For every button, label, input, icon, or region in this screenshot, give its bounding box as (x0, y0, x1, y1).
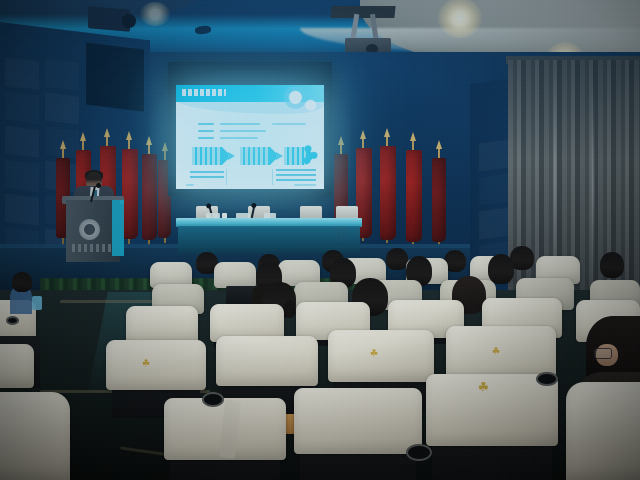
chair-cover[interactable]: ☘ (106, 340, 206, 390)
chair-cover-front[interactable] (0, 392, 70, 480)
downlight-icon (140, 2, 170, 26)
chair-cover[interactable] (214, 262, 256, 288)
projection-screen[interactable] (176, 85, 324, 189)
wall-dark-recess (86, 43, 144, 112)
acoustic-panel (4, 192, 40, 226)
slide-endpoint-graphic-icon (300, 141, 320, 167)
slide-bullet-text (220, 123, 260, 125)
slide-bullet-label (198, 130, 214, 132)
flag-finial-icon (126, 131, 132, 140)
flag-finial-icon (146, 136, 152, 145)
cup-holder-icon (202, 392, 224, 407)
slide-footer-logo (186, 184, 194, 186)
flag-icon (432, 158, 446, 242)
flag-finial-icon (60, 140, 66, 149)
projector-mount-plate (330, 6, 395, 18)
acoustic-panel (4, 56, 40, 90)
flag-finial-icon (410, 132, 416, 141)
seal-inner-icon (84, 224, 95, 235)
chair-cover-edge-left[interactable] (0, 344, 34, 388)
slide-footer-text (294, 184, 316, 186)
glasses-icon (594, 348, 612, 359)
chair-monogram: ☘ (492, 346, 499, 357)
chair-cover[interactable] (216, 336, 318, 386)
ponytail-icon (284, 300, 296, 318)
chair-monogram: ☘ (142, 358, 149, 369)
attendee-head (12, 272, 32, 292)
attendee-head (600, 252, 624, 278)
slide-bullet-text (272, 123, 306, 125)
chair-cover-front[interactable]: ☘ (426, 374, 558, 446)
acoustic-panel (4, 158, 40, 192)
flag-finial-icon (384, 128, 390, 137)
flag-finial-icon (436, 140, 442, 149)
chair-cover[interactable]: ☘ (328, 330, 434, 382)
slide-bullet-label (198, 137, 214, 139)
slide-flow-step-1 (192, 147, 222, 165)
acoustic-panel (4, 124, 40, 158)
slide-flow-arrow-icon (228, 152, 235, 160)
acoustic-panel (44, 57, 80, 91)
cup-holder-icon (6, 316, 19, 325)
phone-screen-icon (32, 296, 42, 310)
conference-hall-photo: ☘ ☘ ☘ ☘ (0, 0, 640, 480)
podium-nameplate (72, 244, 114, 252)
attendee-head (488, 254, 514, 284)
flag-finial-icon (338, 136, 344, 145)
flag-finial-icon (104, 128, 110, 137)
flag-icon (142, 154, 157, 240)
slide-bullet-label (198, 123, 214, 125)
slide-title-text (182, 89, 226, 96)
cup-holder-icon (536, 372, 558, 386)
slide-divider (272, 169, 273, 185)
slide-caption-block (276, 169, 316, 183)
flag-finial-icon (360, 130, 366, 139)
microphone-icon (96, 183, 101, 188)
speaker-cone-icon (122, 14, 136, 28)
flag-icon (406, 150, 422, 242)
flag-icon (122, 149, 138, 239)
flag-finial-icon (80, 132, 86, 141)
chair-cover-front[interactable] (294, 388, 422, 454)
slide-decoration-icon (284, 87, 322, 113)
attendee-head (386, 248, 408, 270)
chair-cover[interactable] (126, 306, 198, 344)
chair-cover[interactable]: ☘ (446, 326, 556, 380)
slide-flow-step-2 (240, 147, 270, 165)
acoustic-panel (44, 91, 80, 125)
slide-caption-block (190, 171, 224, 180)
acoustic-panel (4, 90, 40, 124)
slide-bullet-text (220, 137, 258, 139)
chair-cover-front[interactable] (566, 382, 640, 480)
slide-flow-arrow-icon (276, 152, 283, 160)
chair-monogram: ☘ (478, 380, 488, 395)
cup-holder-icon (406, 444, 432, 461)
slide-bullet-text (220, 130, 266, 132)
slide-divider (226, 169, 227, 185)
flag-icon (380, 146, 396, 240)
chair-monogram: ☘ (370, 348, 377, 359)
